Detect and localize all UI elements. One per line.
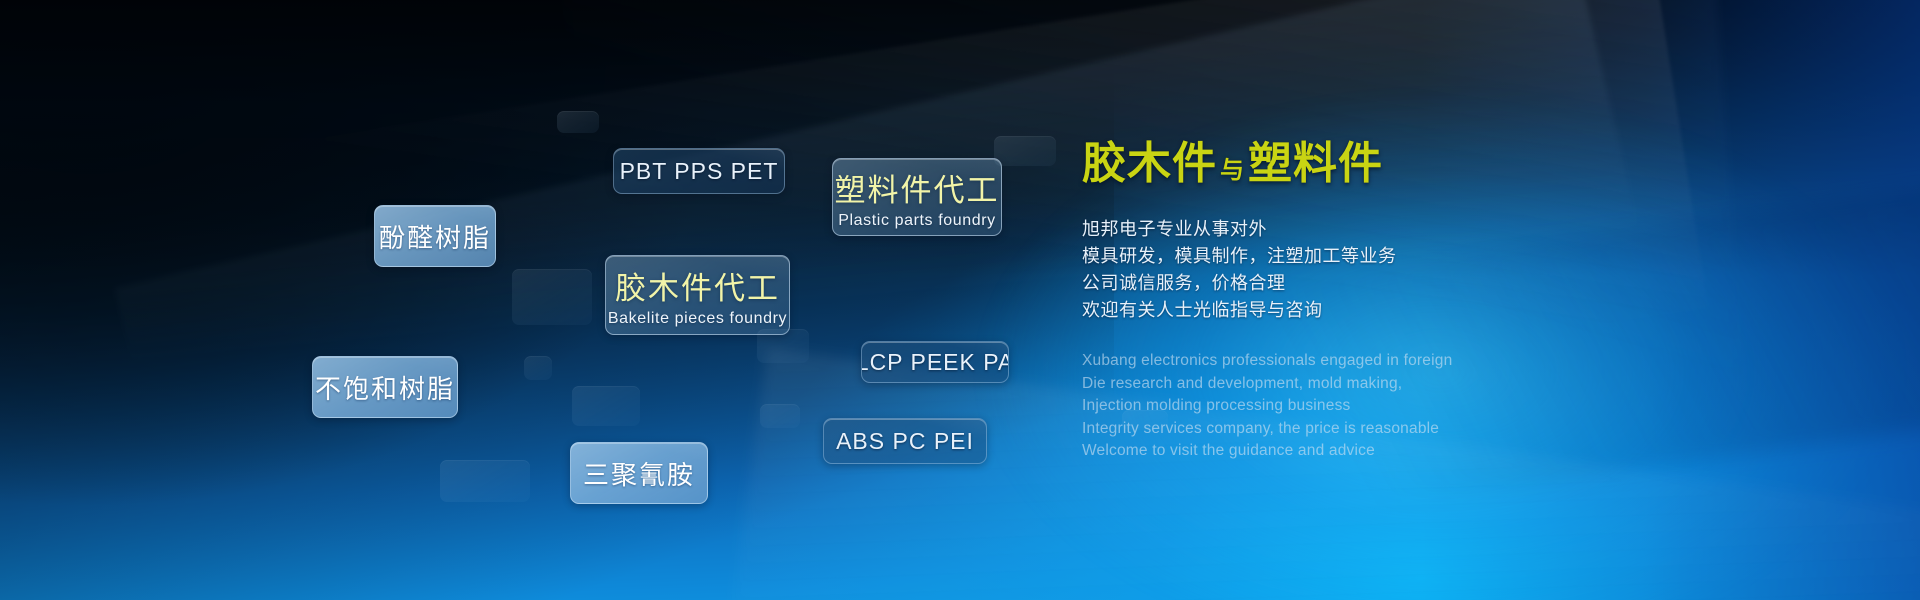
- banner-hero: 酚醛树脂不饱和树脂三聚氰胺PBT PPS PETLCP PEEK PAABS P…: [0, 0, 1920, 600]
- english-line: Welcome to visit the guidance and advice: [1082, 440, 1502, 463]
- chinese-description: 旭邦电子专业从事对外模具研发，模具制作，注塑加工等业务公司诚信服务，价格合理欢迎…: [1082, 216, 1502, 324]
- material-card-phenolic[interactable]: 酚醛树脂: [374, 205, 496, 267]
- text-panel: 胶木件与塑料件 旭邦电子专业从事对外模具研发，模具制作，注塑加工等业务公司诚信服…: [1082, 140, 1502, 463]
- material-card-unsaturated[interactable]: 不饱和树脂: [312, 356, 458, 418]
- feature-card-bakelite[interactable]: 胶木件代工Bakelite pieces foundry: [605, 255, 790, 335]
- tag-card-tag-pbt[interactable]: PBT PPS PET: [613, 148, 785, 194]
- title-conjunction: 与: [1217, 157, 1248, 184]
- english-description: Xubang electronics professionals engaged…: [1082, 350, 1502, 463]
- tag-card-tag-abs[interactable]: ABS PC PEI: [823, 418, 987, 464]
- deco-block: [440, 460, 530, 502]
- material-card-label: 酚醛树脂: [379, 218, 491, 255]
- tag-card-label: LCP PEEK PA: [861, 349, 1009, 376]
- feature-card-plastic[interactable]: 塑料件代工Plastic parts foundry: [832, 158, 1002, 236]
- title-part-one: 胶木件: [1082, 139, 1217, 188]
- english-line: Injection molding processing business: [1082, 395, 1502, 418]
- chinese-line: 公司诚信服务，价格合理: [1082, 270, 1502, 297]
- feature-card-subtitle: Bakelite pieces foundry: [608, 310, 787, 328]
- deco-block: [512, 269, 592, 325]
- tag-card-label: ABS PC PEI: [836, 428, 974, 455]
- deco-block: [572, 386, 640, 426]
- deco-block: [760, 404, 800, 428]
- chinese-line: 模具研发，模具制作，注塑加工等业务: [1082, 243, 1502, 270]
- tag-card-label: PBT PPS PET: [620, 158, 779, 185]
- material-card-melamine[interactable]: 三聚氰胺: [570, 442, 708, 504]
- feature-card-title: 胶木件代工: [615, 263, 780, 308]
- english-line: Xubang electronics professionals engaged…: [1082, 350, 1502, 373]
- feature-card-subtitle: Plastic parts foundry: [838, 212, 996, 230]
- material-card-label: 三聚氰胺: [583, 455, 695, 492]
- chinese-line: 欢迎有关人士光临指导与咨询: [1082, 297, 1502, 324]
- chinese-line: 旭邦电子专业从事对外: [1082, 216, 1502, 243]
- english-line: Integrity services company, the price is…: [1082, 418, 1502, 441]
- page-title: 胶木件与塑料件: [1082, 140, 1502, 188]
- title-part-two: 塑料件: [1248, 139, 1383, 188]
- english-line: Die research and development, mold makin…: [1082, 373, 1502, 396]
- tag-card-tag-lcp[interactable]: LCP PEEK PA: [861, 341, 1009, 383]
- deco-block: [557, 111, 599, 133]
- material-card-label: 不饱和树脂: [315, 369, 455, 406]
- feature-card-title: 塑料件代工: [835, 165, 1000, 210]
- deco-block: [524, 356, 552, 380]
- deco-block: [994, 136, 1056, 166]
